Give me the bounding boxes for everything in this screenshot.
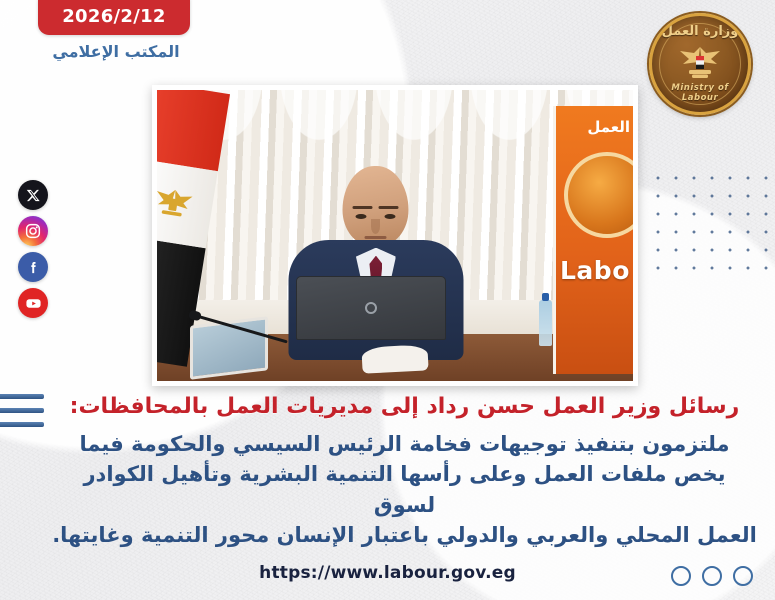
youtube-icon[interactable] xyxy=(18,288,48,318)
banner-seal xyxy=(564,152,633,238)
eye-left xyxy=(356,214,367,219)
person-head xyxy=(343,166,409,246)
rule-bar xyxy=(0,408,44,413)
flag-eagle-icon xyxy=(157,180,198,226)
circle-dot xyxy=(733,566,753,586)
banner-arabic-text: العمل xyxy=(587,118,630,136)
rule-bar xyxy=(0,422,44,427)
body-line: العمل المحلي والعربي والدولي باعتبار الإ… xyxy=(52,520,757,550)
dot-grid-decoration xyxy=(645,165,775,277)
instagram-icon[interactable] xyxy=(18,216,48,246)
news-photo-frame: العمل Labo xyxy=(152,85,638,386)
water-bottle xyxy=(539,300,552,346)
ministry-banner: العمل Labo xyxy=(553,106,633,374)
media-office-label: المكتب الإعلامي xyxy=(46,42,186,61)
media-card: 2026/2/12 المكتب الإعلامي وزارة العمل Mi… xyxy=(0,0,775,600)
x-twitter-icon[interactable] xyxy=(18,180,48,210)
body-line: ملتزمون بتنفيذ توجيهات فخامة الرئيس السي… xyxy=(52,429,757,459)
date-badge: 2026/2/12 xyxy=(38,0,190,35)
social-links xyxy=(18,180,48,324)
tissue-box xyxy=(361,345,428,374)
circle-dot xyxy=(671,566,691,586)
laptop-logo-icon xyxy=(365,302,377,314)
headline: رسائل وزير العمل حسن رداد إلى مديريات ال… xyxy=(52,392,757,422)
eyebrow-right xyxy=(379,206,399,209)
laptop xyxy=(296,276,446,340)
rule-bar xyxy=(0,394,44,399)
seal-arabic-title: وزارة العمل xyxy=(652,24,748,39)
banner-label: Labo xyxy=(560,256,633,285)
body-paragraph: ملتزمون بتنفيذ توجيهات فخامة الرئيس السي… xyxy=(52,429,757,551)
flag-stripe-red xyxy=(157,90,230,171)
decorative-rules xyxy=(0,394,44,436)
mouth xyxy=(365,236,387,239)
news-photo: العمل Labo xyxy=(157,90,633,381)
body-line: يخص ملفات العمل وعلى رأسها التنمية البشر… xyxy=(52,459,757,520)
circle-dot xyxy=(702,566,722,586)
eye-right xyxy=(385,214,396,219)
eyebrow-left xyxy=(353,206,373,209)
egypt-eagle-icon xyxy=(675,42,725,82)
seal-english-title: Ministry of Labour xyxy=(652,83,748,103)
text-block: رسائل وزير العمل حسن رداد إلى مديريات ال… xyxy=(52,392,757,550)
ministry-seal-logo: وزارة العمل Ministry of Labour xyxy=(649,13,751,115)
nose xyxy=(371,219,380,234)
website-url[interactable]: https://www.labour.gov.eg xyxy=(0,563,775,583)
decorative-circles xyxy=(671,566,753,586)
facebook-icon[interactable] xyxy=(18,252,48,282)
